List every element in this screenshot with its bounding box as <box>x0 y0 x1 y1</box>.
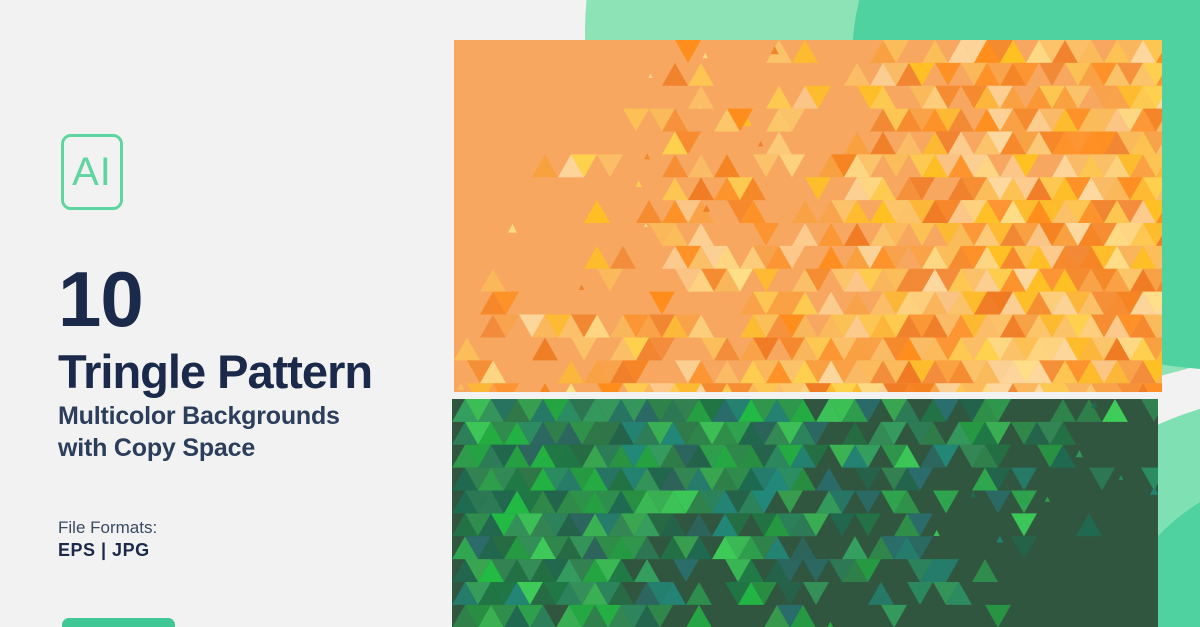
page-subtitle: Multicolor Backgrounds with Copy Space <box>58 400 340 464</box>
adobe-illustrator-badge-label: AI <box>72 152 112 192</box>
download-button[interactable]: Download <box>62 618 175 627</box>
page-subtitle-line-1: Multicolor Backgrounds <box>58 400 340 432</box>
banner-canvas: AI 10 Tringle Pattern Multicolor Backgro… <box>0 0 1200 627</box>
page-title: Tringle Pattern <box>58 348 372 395</box>
orange-pattern-svg <box>454 40 1162 392</box>
adobe-illustrator-badge: AI <box>61 134 123 210</box>
info-panel: AI 10 Tringle Pattern Multicolor Backgro… <box>0 0 452 627</box>
item-count: 10 <box>58 262 143 336</box>
orange-triangle-pattern-preview[interactable] <box>454 40 1162 392</box>
file-formats-label: File Formats: <box>58 518 157 538</box>
green-pattern-svg <box>452 399 1158 627</box>
file-formats-value: EPS | JPG <box>58 540 150 561</box>
page-subtitle-line-2: with Copy Space <box>58 432 340 464</box>
green-triangle-pattern-preview[interactable] <box>452 399 1158 627</box>
